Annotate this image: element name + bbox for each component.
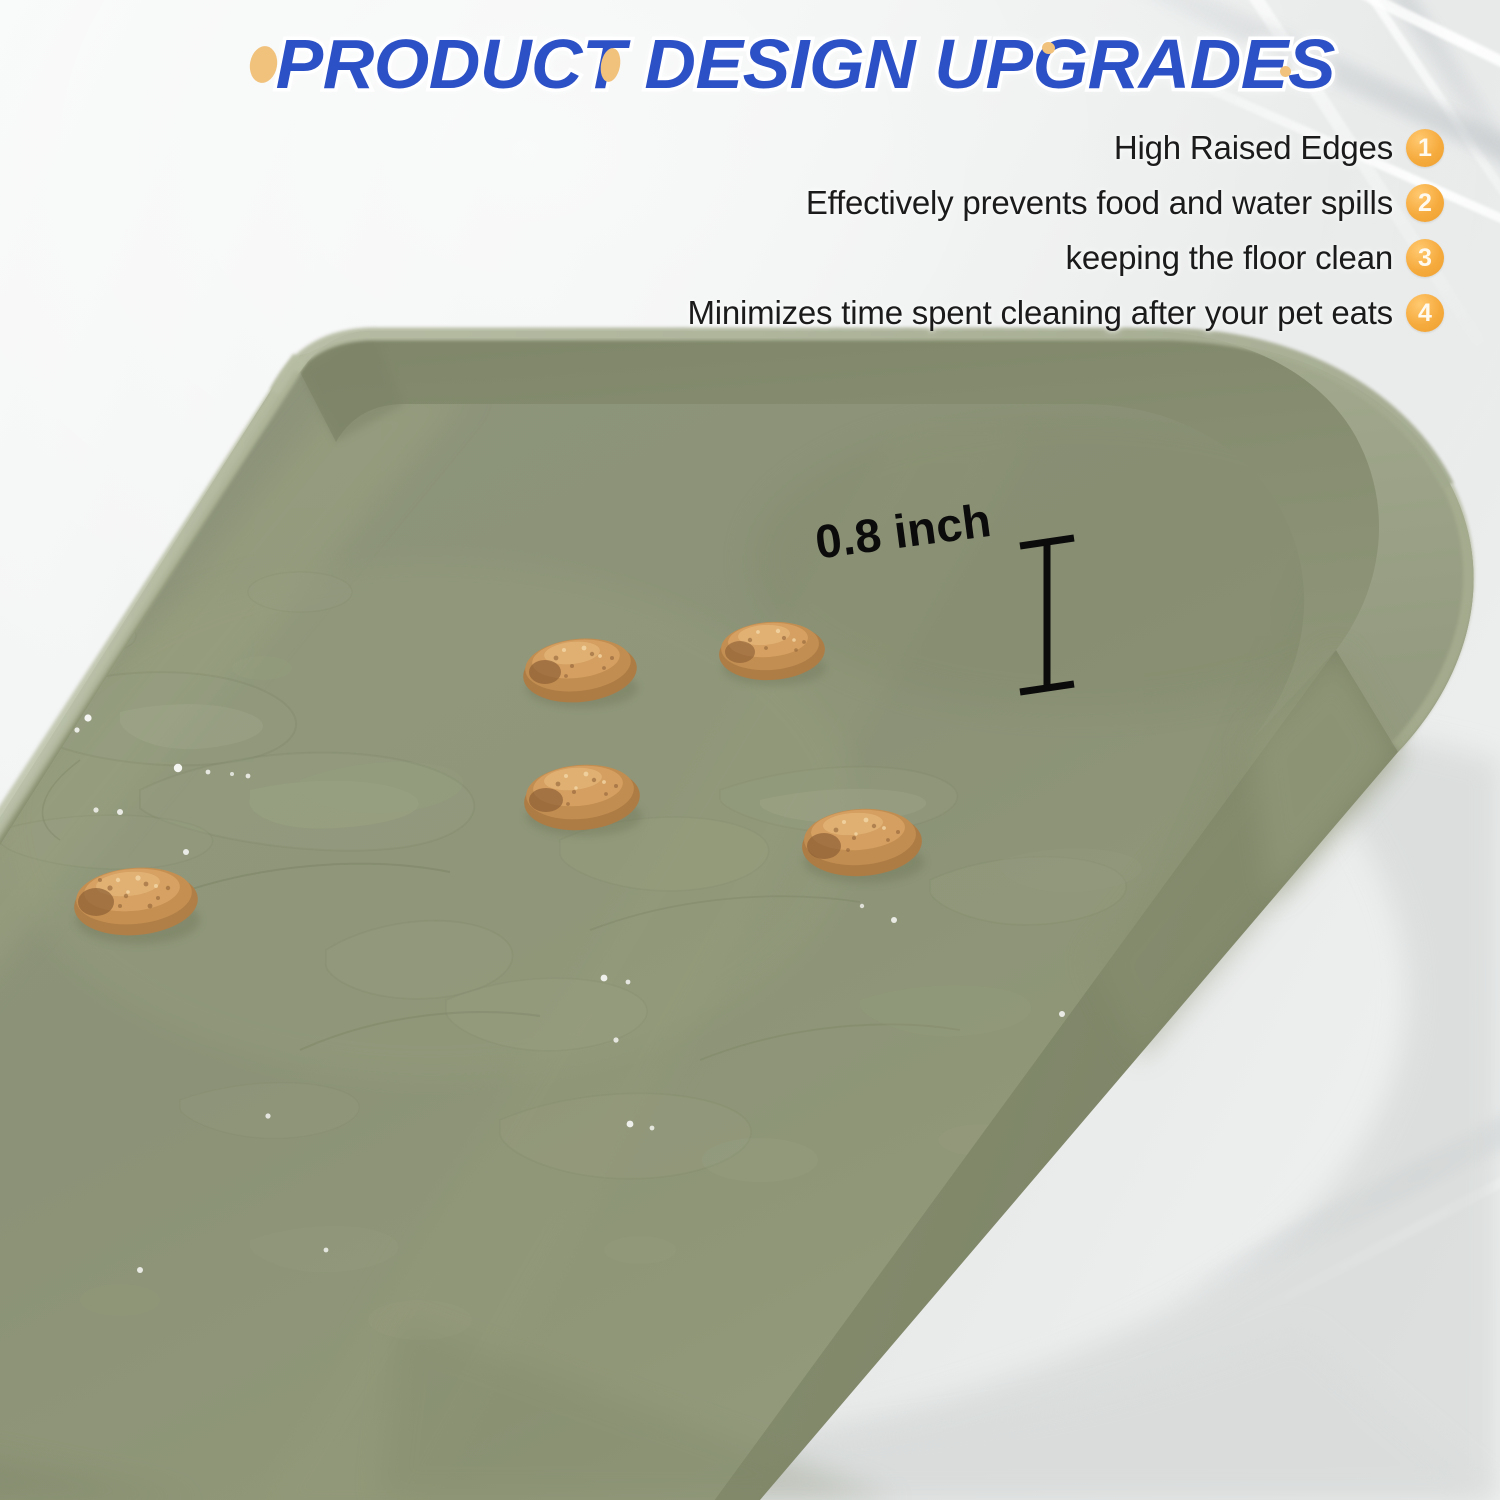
feature-item-2: Effectively prevents food and water spil… [544,181,1444,225]
feature-number-badge: 1 [1406,129,1444,167]
feature-number-badge: 2 [1406,184,1444,222]
feature-list: High Raised Edges 1 Effectively prevents… [544,126,1444,335]
headline-banner: PRODUCT DESIGN UPGRADES [120,20,1490,108]
feature-label: Minimizes time spent cleaning after your… [687,294,1393,332]
feature-item-4: Minimizes time spent cleaning after your… [544,291,1444,335]
feature-label: High Raised Edges [1114,129,1393,167]
feature-number-badge: 4 [1406,294,1444,332]
page-title: PRODUCT DESIGN UPGRADES [275,24,1334,104]
feature-label: keeping the floor clean [1066,239,1393,277]
feature-number-badge: 3 [1406,239,1444,277]
feature-item-3: keeping the floor clean 3 [544,236,1444,280]
feature-item-1: High Raised Edges 1 [544,126,1444,170]
product-marketing-image: 0.8 inch PRODUCT DESIGN UPGRADES High Ra… [0,0,1500,1500]
feature-label: Effectively prevents food and water spil… [806,184,1393,222]
